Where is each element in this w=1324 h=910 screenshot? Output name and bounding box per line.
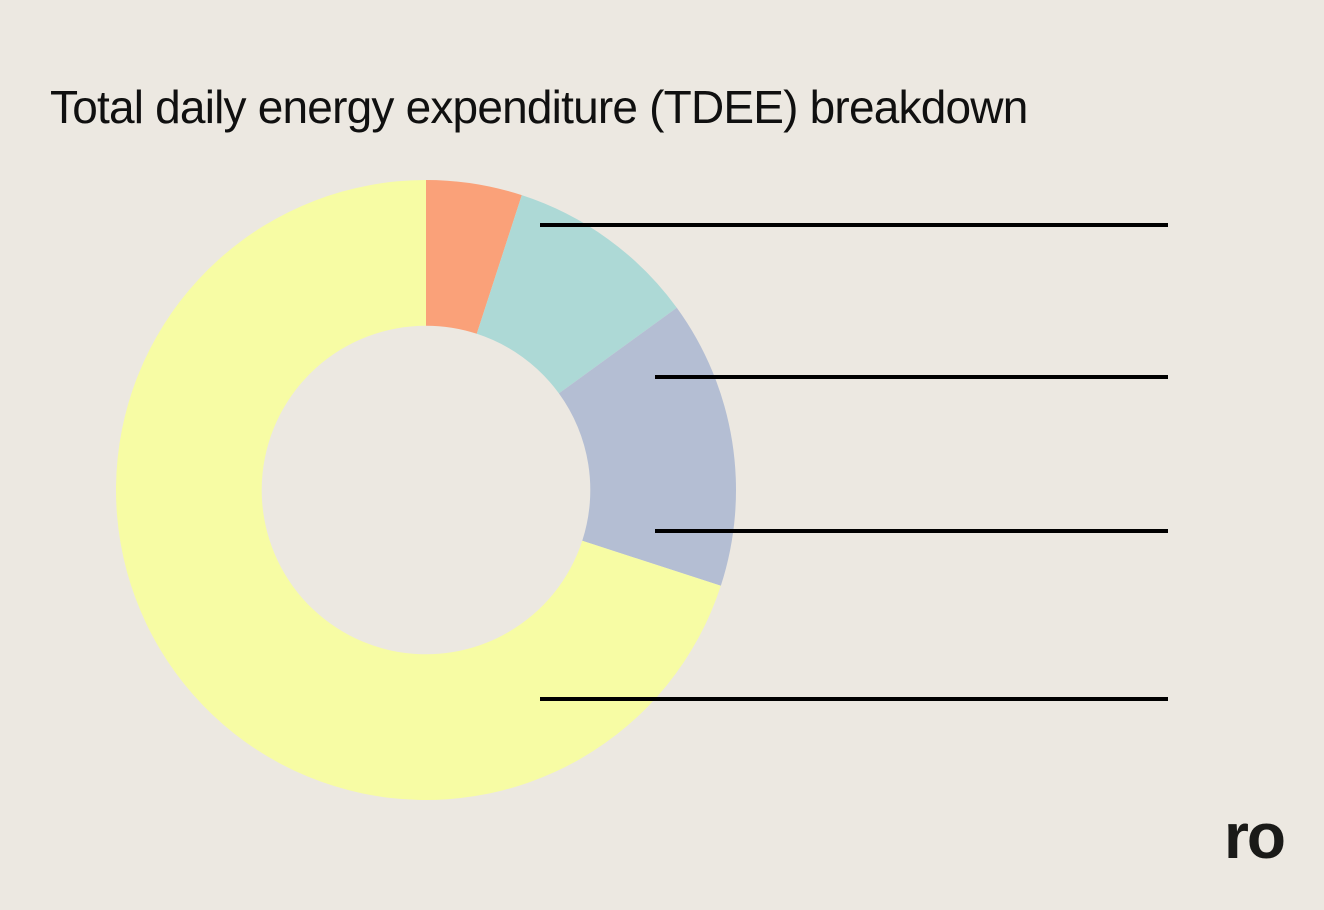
legend-leader-line-eat xyxy=(540,223,1168,227)
legend-leader-line-neat xyxy=(655,529,1168,533)
donut-chart-svg xyxy=(108,172,744,808)
donut-slice-group xyxy=(116,180,736,800)
legend-leader-line-bmr xyxy=(540,697,1168,701)
ro-logo: ro xyxy=(1224,804,1284,868)
page-title: Total daily energy expenditure (TDEE) br… xyxy=(50,79,1280,135)
tdee-infographic: Total daily energy expenditure (TDEE) br… xyxy=(0,0,1324,910)
donut-chart xyxy=(108,172,744,808)
legend-leader-line-tef xyxy=(655,375,1168,379)
